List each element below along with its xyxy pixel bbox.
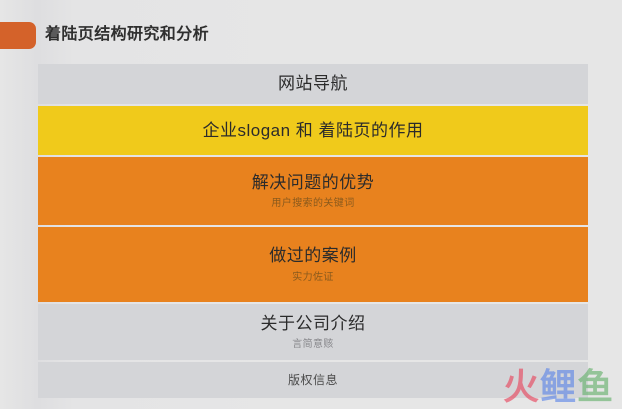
section-title: 网站导航 bbox=[278, 73, 348, 94]
wireframe-section-cases[interactable]: 做过的案例 实力佐证 bbox=[38, 227, 588, 302]
wireframe-section-advantage[interactable]: 解决问题的优势 用户搜索的关键词 bbox=[38, 157, 588, 225]
landing-page-wireframe: 网站导航 企业slogan 和 着陆页的作用 解决问题的优势 用户搜索的关键词 … bbox=[38, 64, 588, 398]
header-accent-marker bbox=[0, 22, 36, 49]
page-title: 着陆页结构研究和分析 bbox=[45, 27, 209, 43]
wireframe-section-about[interactable]: 关于公司介绍 言简意赅 bbox=[38, 304, 588, 360]
watermark-char-3: 鱼 bbox=[577, 366, 614, 407]
watermark-logo: 火鲤鱼 bbox=[503, 369, 614, 405]
watermark-char-2: 鲤 bbox=[540, 366, 577, 407]
section-subtitle: 言简意赅 bbox=[292, 338, 334, 351]
section-title: 版权信息 bbox=[288, 373, 338, 388]
section-subtitle: 实力佐证 bbox=[292, 271, 334, 284]
section-title: 做过的案例 bbox=[269, 245, 357, 266]
page-header: 着陆页结构研究和分析 bbox=[0, 21, 622, 49]
wireframe-section-site-navigation[interactable]: 网站导航 bbox=[38, 64, 588, 104]
section-title: 关于公司介绍 bbox=[261, 313, 366, 334]
section-title: 企业slogan 和 着陆页的作用 bbox=[202, 120, 423, 141]
section-subtitle: 用户搜索的关键词 bbox=[271, 197, 354, 210]
section-title: 解决问题的优势 bbox=[252, 172, 375, 193]
wireframe-section-slogan[interactable]: 企业slogan 和 着陆页的作用 bbox=[38, 106, 588, 155]
watermark-char-1: 火 bbox=[503, 366, 540, 407]
